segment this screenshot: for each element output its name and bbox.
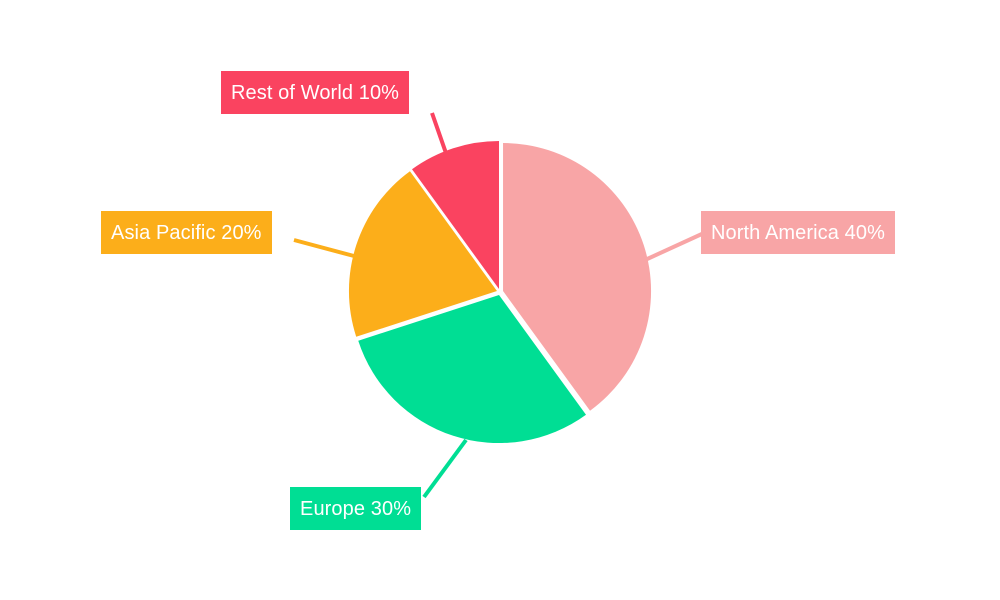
slice-label-europe[interactable]: Europe 30% bbox=[290, 487, 421, 530]
slice-label-text-asia-pacific: Asia Pacific 20% bbox=[111, 223, 262, 243]
slice-label-text-north-america: North America 40% bbox=[711, 223, 885, 243]
slice-label-text-rest-of-world: Rest of World 10% bbox=[231, 83, 399, 103]
slice-label-rest-of-world[interactable]: Rest of World 10% bbox=[221, 71, 409, 114]
slice-label-north-america[interactable]: North America 40% bbox=[701, 211, 895, 254]
pie-chart-canvas bbox=[0, 0, 1000, 600]
leader-line-europe bbox=[424, 440, 466, 497]
leader-line-north-america bbox=[645, 233, 704, 260]
pie-chart-figure: North America 40% Europe 30% Asia Pacifi… bbox=[0, 0, 1000, 600]
pie-slices bbox=[349, 141, 651, 443]
slice-label-text-europe: Europe 30% bbox=[300, 499, 411, 519]
leader-line-asia-pacific bbox=[294, 240, 354, 256]
slice-label-asia-pacific[interactable]: Asia Pacific 20% bbox=[101, 211, 272, 254]
